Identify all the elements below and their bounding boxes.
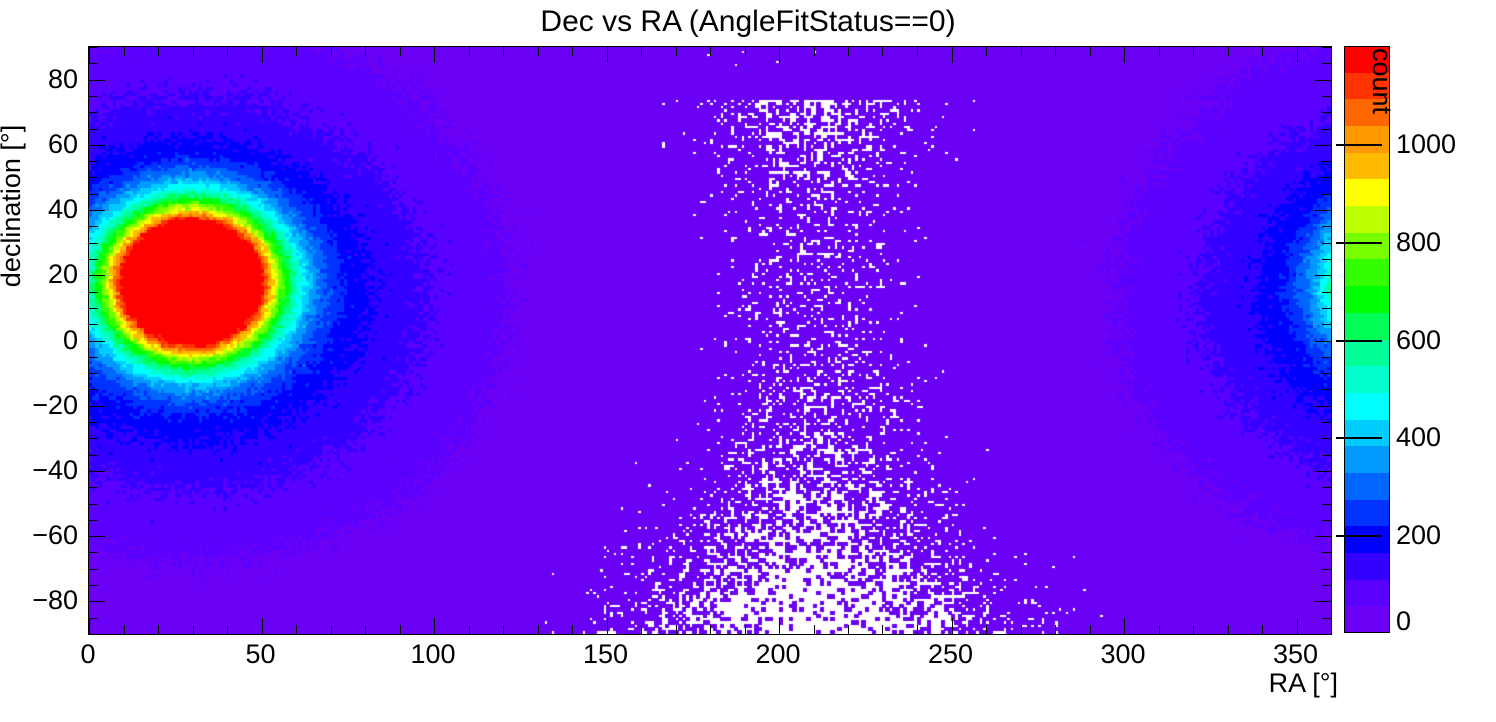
y-tick-major-right <box>1315 80 1331 81</box>
y-tick-minor-right <box>1322 438 1331 439</box>
x-axis-title: RA [°] <box>1269 668 1338 699</box>
y-tick-minor <box>89 161 98 162</box>
x-tick-minor <box>986 625 987 634</box>
y-tick-minor <box>89 47 98 48</box>
x-axis-tick-label: 150 <box>583 639 628 669</box>
x-tick-minor <box>814 625 815 634</box>
x-tick-major-top <box>434 47 435 63</box>
y-tick-minor-right <box>1322 194 1331 195</box>
x-tick-major-top <box>262 47 263 63</box>
palette-band <box>1344 179 1390 206</box>
y-tick-minor-right <box>1322 487 1331 488</box>
y-tick-minor-right <box>1322 455 1331 456</box>
x-tick-minor <box>158 625 159 634</box>
y-tick-minor-right <box>1322 226 1331 227</box>
x-tick-minor-top <box>296 47 297 56</box>
palette-tick <box>1336 242 1382 244</box>
y-tick-minor-right <box>1322 112 1331 113</box>
x-tick-minor <box>882 625 883 634</box>
y-tick-minor <box>89 292 98 293</box>
x-tick-minor <box>572 625 573 634</box>
x-tick-minor <box>1021 625 1022 634</box>
palette-title: count <box>1368 48 1396 178</box>
x-tick-minor <box>1228 625 1229 634</box>
x-tick-minor <box>296 625 297 634</box>
y-tick-minor-right <box>1322 96 1331 97</box>
palette-tick <box>1336 437 1382 439</box>
root-canvas-page: Dec vs RA (AngleFitStatus==0) 0501001502… <box>0 0 1496 722</box>
y-tick-major-right <box>1315 275 1331 276</box>
y-tick-minor-right <box>1322 292 1331 293</box>
x-tick-minor-top <box>227 47 228 56</box>
x-tick-minor <box>1055 625 1056 634</box>
palette-tick-label: 1000 <box>1396 129 1456 159</box>
x-tick-major-top <box>89 47 90 63</box>
palette-tick <box>1336 340 1382 342</box>
y-tick-major <box>89 80 105 81</box>
palette-band <box>1344 233 1390 259</box>
y-tick-minor-right <box>1322 504 1331 505</box>
y-tick-major <box>89 471 105 472</box>
x-tick-minor-top <box>676 47 677 56</box>
y-tick-minor <box>89 112 98 113</box>
palette-band <box>1344 526 1390 553</box>
y-tick-minor-right <box>1322 47 1331 48</box>
y-tick-minor <box>89 634 98 635</box>
x-tick-minor <box>1262 625 1263 634</box>
x-tick-minor-top <box>572 47 573 56</box>
x-tick-minor-top <box>1090 47 1091 56</box>
plot-frame <box>88 46 1332 635</box>
x-tick-major-top <box>779 47 780 63</box>
y-tick-minor <box>89 455 98 456</box>
x-axis-tick-label: 0 <box>80 639 95 669</box>
x-axis-tick-label: 250 <box>928 639 973 669</box>
y-tick-minor-right <box>1322 324 1331 325</box>
y-tick-major-right <box>1315 406 1331 407</box>
x-tick-minor <box>331 625 332 634</box>
palette-tick-label: 400 <box>1396 422 1441 452</box>
x-tick-major <box>779 618 780 634</box>
x-tick-minor-top <box>848 47 849 56</box>
y-tick-major <box>89 601 105 602</box>
x-axis-tick-label: 50 <box>245 639 275 669</box>
x-tick-minor <box>745 625 746 634</box>
x-tick-minor-top <box>1193 47 1194 56</box>
y-axis-tick-label: −40 <box>0 455 78 485</box>
x-tick-major-top <box>1297 47 1298 63</box>
y-tick-major <box>89 210 105 211</box>
x-tick-major <box>1331 618 1332 634</box>
x-tick-minor <box>917 625 918 634</box>
x-tick-minor-top <box>1055 47 1056 56</box>
y-tick-major <box>89 145 105 146</box>
y-tick-minor-right <box>1322 389 1331 390</box>
palette-band <box>1344 393 1390 420</box>
palette-band <box>1344 340 1390 366</box>
y-tick-minor-right <box>1322 618 1331 619</box>
x-tick-major <box>1297 618 1298 634</box>
x-tick-minor <box>124 625 125 634</box>
y-tick-minor-right <box>1322 177 1331 178</box>
x-axis-tick-label: 300 <box>1100 639 1145 669</box>
y-tick-minor-right <box>1322 259 1331 260</box>
x-tick-minor <box>365 625 366 634</box>
y-tick-minor <box>89 373 98 374</box>
y-tick-minor <box>89 438 98 439</box>
x-tick-major-top <box>952 47 953 63</box>
x-tick-minor <box>469 625 470 634</box>
x-tick-minor-top <box>469 47 470 56</box>
palette-tick-label: 600 <box>1396 325 1441 355</box>
palette-tick-label: 800 <box>1396 227 1441 257</box>
y-tick-minor-right <box>1322 243 1331 244</box>
x-tick-minor <box>1193 625 1194 634</box>
y-tick-minor <box>89 177 98 178</box>
y-axis-tick-label: −80 <box>0 585 78 615</box>
y-tick-minor <box>89 585 98 586</box>
x-tick-major <box>607 618 608 634</box>
x-tick-minor <box>848 625 849 634</box>
palette-band <box>1344 553 1390 580</box>
x-tick-major <box>1124 618 1125 634</box>
y-tick-minor <box>89 63 98 64</box>
y-tick-minor <box>89 552 98 553</box>
x-tick-minor-top <box>745 47 746 56</box>
x-tick-minor-top <box>331 47 332 56</box>
x-tick-minor <box>193 625 194 634</box>
x-tick-minor-top <box>1159 47 1160 56</box>
x-tick-minor-top <box>400 47 401 56</box>
histogram-canvas <box>89 47 1331 634</box>
y-tick-minor <box>89 520 98 521</box>
x-tick-minor <box>538 625 539 634</box>
y-tick-minor <box>89 324 98 325</box>
y-tick-minor-right <box>1322 357 1331 358</box>
y-tick-minor <box>89 422 98 423</box>
y-axis-title: declination [°] <box>0 46 26 366</box>
y-tick-minor <box>89 259 98 260</box>
x-tick-minor-top <box>538 47 539 56</box>
y-tick-minor <box>89 243 98 244</box>
x-tick-minor-top <box>365 47 366 56</box>
palette-band <box>1344 259 1390 286</box>
y-axis-tick-label: −20 <box>0 390 78 420</box>
x-tick-minor-top <box>1228 47 1229 56</box>
palette-band <box>1344 580 1390 606</box>
x-tick-minor-top <box>503 47 504 56</box>
x-tick-major-top <box>1331 47 1332 63</box>
y-tick-major-right <box>1315 341 1331 342</box>
x-tick-major-top <box>1124 47 1125 63</box>
y-tick-major-right <box>1315 471 1331 472</box>
palette-band <box>1344 473 1390 500</box>
y-tick-major-right <box>1315 536 1331 537</box>
palette-band <box>1344 606 1390 633</box>
x-tick-minor-top <box>193 47 194 56</box>
x-tick-minor-top <box>158 47 159 56</box>
y-tick-minor-right <box>1322 129 1331 130</box>
y-tick-minor <box>89 389 98 390</box>
y-tick-major <box>89 275 105 276</box>
x-tick-minor <box>676 625 677 634</box>
y-tick-minor <box>89 308 98 309</box>
y-tick-minor <box>89 569 98 570</box>
x-tick-minor <box>710 625 711 634</box>
x-tick-minor <box>1159 625 1160 634</box>
palette-tick-label: 200 <box>1396 520 1441 550</box>
x-tick-minor-top <box>1021 47 1022 56</box>
x-tick-minor-top <box>882 47 883 56</box>
y-tick-minor <box>89 96 98 97</box>
x-tick-minor-top <box>814 47 815 56</box>
x-tick-minor-top <box>986 47 987 56</box>
x-tick-major <box>262 618 263 634</box>
x-tick-minor-top <box>1262 47 1263 56</box>
y-tick-minor-right <box>1322 63 1331 64</box>
palette-tick <box>1336 535 1382 537</box>
x-tick-minor-top <box>710 47 711 56</box>
y-tick-minor <box>89 129 98 130</box>
palette-band <box>1344 446 1390 473</box>
palette-band <box>1344 313 1390 340</box>
x-tick-major <box>952 618 953 634</box>
y-tick-minor-right <box>1322 373 1331 374</box>
y-tick-minor <box>89 357 98 358</box>
x-tick-minor-top <box>124 47 125 56</box>
page-title: Dec vs RA (AngleFitStatus==0) <box>0 4 1496 40</box>
y-tick-minor-right <box>1322 422 1331 423</box>
y-tick-major <box>89 341 105 342</box>
x-tick-minor <box>641 625 642 634</box>
x-tick-minor <box>503 625 504 634</box>
x-tick-minor <box>400 625 401 634</box>
y-tick-minor-right <box>1322 161 1331 162</box>
y-tick-major-right <box>1315 601 1331 602</box>
x-tick-major-top <box>607 47 608 63</box>
x-axis-tick-label: 100 <box>410 639 455 669</box>
y-tick-major <box>89 406 105 407</box>
y-tick-minor <box>89 504 98 505</box>
y-tick-minor <box>89 194 98 195</box>
palette-band <box>1344 206 1390 233</box>
x-axis-tick-label: 350 <box>1273 639 1318 669</box>
x-tick-minor-top <box>641 47 642 56</box>
x-tick-major <box>89 618 90 634</box>
y-tick-minor-right <box>1322 585 1331 586</box>
y-tick-minor <box>89 226 98 227</box>
y-axis-tick-label: −60 <box>0 520 78 550</box>
palette-band <box>1344 366 1390 393</box>
x-tick-minor <box>1090 625 1091 634</box>
y-tick-minor-right <box>1322 552 1331 553</box>
palette-band <box>1344 500 1390 526</box>
x-tick-minor <box>227 625 228 634</box>
y-tick-minor-right <box>1322 569 1331 570</box>
x-axis-tick-label: 200 <box>755 639 800 669</box>
x-tick-minor-top <box>917 47 918 56</box>
palette-tick-label: 0 <box>1396 606 1411 636</box>
y-tick-minor <box>89 487 98 488</box>
y-tick-minor <box>89 618 98 619</box>
y-tick-major-right <box>1315 145 1331 146</box>
y-tick-minor-right <box>1322 634 1331 635</box>
palette-band <box>1344 420 1390 446</box>
y-tick-minor-right <box>1322 308 1331 309</box>
y-tick-major <box>89 536 105 537</box>
y-tick-major-right <box>1315 210 1331 211</box>
palette-band <box>1344 286 1390 313</box>
x-tick-major <box>434 618 435 634</box>
y-tick-minor-right <box>1322 520 1331 521</box>
